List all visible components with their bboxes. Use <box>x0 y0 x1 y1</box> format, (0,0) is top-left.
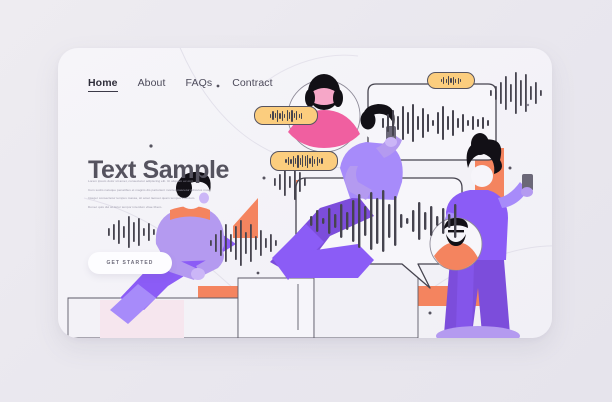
waveform-left <box>108 216 155 248</box>
body-line: Donec quis dui at dolor tempor interdum … <box>88 204 238 210</box>
hero-body-copy: Lorem ipsum dolor sit amet, consectetur … <box>88 178 238 212</box>
get-started-button[interactable]: GET STARTED <box>88 252 172 274</box>
waveform-top-right <box>490 72 542 114</box>
body-line: Cum sociis natoque penatibus et magnis d… <box>88 187 238 193</box>
screen: Home About FAQs Contract Text Sample Lor… <box>0 0 612 402</box>
voice-pill-top-right[interactable] <box>427 72 475 89</box>
nav-item-home[interactable]: Home <box>88 77 118 92</box>
hero-card: Home About FAQs Contract Text Sample Lor… <box>58 48 552 338</box>
main-nav: Home About FAQs Contract <box>88 77 273 92</box>
voice-pill-waveform <box>285 152 322 170</box>
voice-pill-top-left[interactable] <box>254 106 318 125</box>
body-line: Lorem ipsum dolor sit amet, consectetur … <box>88 178 238 184</box>
nav-item-faqs[interactable]: FAQs <box>186 77 213 89</box>
voice-pill-mid-left[interactable] <box>270 151 338 171</box>
nav-item-about[interactable]: About <box>138 77 166 89</box>
voice-pill-waveform <box>270 107 302 124</box>
voice-pill-waveform <box>441 73 461 88</box>
nav-item-contract[interactable]: Contract <box>232 77 272 89</box>
body-line: Integer consectetur tempus massa, sit am… <box>88 195 238 201</box>
